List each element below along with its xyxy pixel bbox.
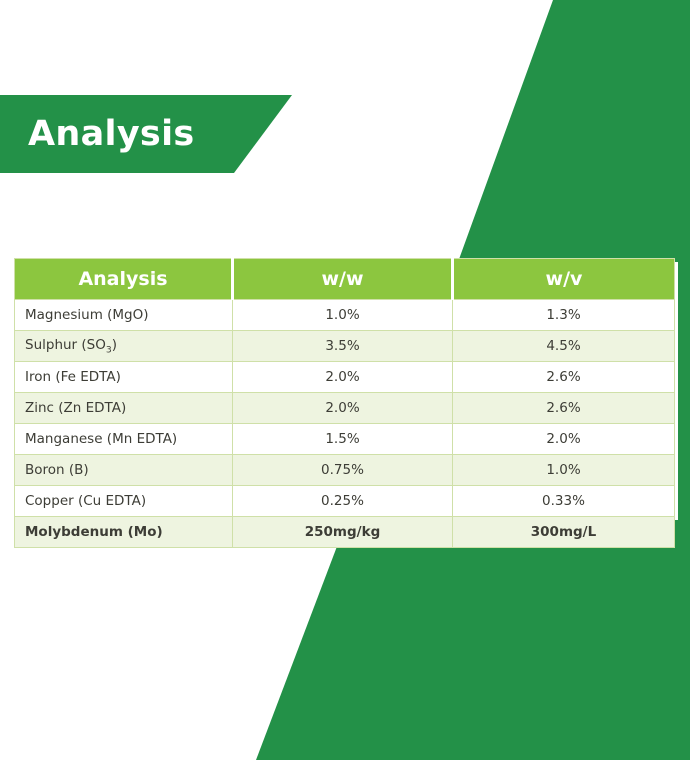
column-header-wv: w/v bbox=[453, 259, 675, 300]
cell-analyte-name: Zinc (Zn EDTA) bbox=[15, 393, 233, 424]
table-row: Magnesium (MgO)1.0%1.3% bbox=[15, 300, 675, 331]
table-row: Manganese (Mn EDTA)1.5%2.0% bbox=[15, 424, 675, 455]
cell-analyte-name: Iron (Fe EDTA) bbox=[15, 362, 233, 393]
column-header-analysis: Analysis bbox=[15, 259, 233, 300]
cell-ww-value: 0.75% bbox=[233, 455, 453, 486]
decorative-shape-bottom-right bbox=[0, 520, 690, 760]
table-body: Magnesium (MgO)1.0%1.3%Sulphur (SO3)3.5%… bbox=[15, 300, 675, 548]
cell-wv-value: 2.0% bbox=[453, 424, 675, 455]
page-title: Analysis bbox=[0, 114, 195, 154]
cell-analyte-name: Molybdenum (Mo) bbox=[15, 517, 233, 548]
cell-analyte-name: Manganese (Mn EDTA) bbox=[15, 424, 233, 455]
table-header-row: Analysis w/w w/v bbox=[15, 259, 675, 300]
table-row: Molybdenum (Mo)250mg/kg300mg/L bbox=[15, 517, 675, 548]
cell-wv-value: 1.3% bbox=[453, 300, 675, 331]
table-row: Boron (B)0.75%1.0% bbox=[15, 455, 675, 486]
cell-wv-value: 4.5% bbox=[453, 331, 675, 362]
cell-ww-value: 250mg/kg bbox=[233, 517, 453, 548]
cell-wv-value: 1.0% bbox=[453, 455, 675, 486]
cell-ww-value: 2.0% bbox=[233, 362, 453, 393]
cell-ww-value: 1.5% bbox=[233, 424, 453, 455]
analysis-page: Analysis Analysis w/w w/v Magnesium (MgO… bbox=[0, 0, 690, 760]
cell-wv-value: 300mg/L bbox=[453, 517, 675, 548]
analysis-table-container: Analysis w/w w/v Magnesium (MgO)1.0%1.3%… bbox=[14, 258, 674, 548]
table-row: Iron (Fe EDTA)2.0%2.6% bbox=[15, 362, 675, 393]
cell-ww-value: 1.0% bbox=[233, 300, 453, 331]
analysis-table: Analysis w/w w/v Magnesium (MgO)1.0%1.3%… bbox=[14, 258, 675, 548]
cell-wv-value: 2.6% bbox=[453, 362, 675, 393]
cell-analyte-name: Magnesium (MgO) bbox=[15, 300, 233, 331]
cell-analyte-name: Boron (B) bbox=[15, 455, 233, 486]
subscript: 3 bbox=[106, 344, 112, 355]
column-header-ww: w/w bbox=[233, 259, 453, 300]
table-row: Copper (Cu EDTA)0.25%0.33% bbox=[15, 486, 675, 517]
table-row: Zinc (Zn EDTA)2.0%2.6% bbox=[15, 393, 675, 424]
decorative-shape-right-edge bbox=[678, 240, 690, 540]
cell-wv-value: 0.33% bbox=[453, 486, 675, 517]
cell-ww-value: 0.25% bbox=[233, 486, 453, 517]
cell-analyte-name: Copper (Cu EDTA) bbox=[15, 486, 233, 517]
cell-ww-value: 2.0% bbox=[233, 393, 453, 424]
cell-wv-value: 2.6% bbox=[453, 393, 675, 424]
table-row: Sulphur (SO3)3.5%4.5% bbox=[15, 331, 675, 362]
title-banner: Analysis bbox=[0, 95, 292, 173]
cell-ww-value: 3.5% bbox=[233, 331, 453, 362]
table-header: Analysis w/w w/v bbox=[15, 259, 675, 300]
cell-analyte-name: Sulphur (SO3) bbox=[15, 331, 233, 362]
